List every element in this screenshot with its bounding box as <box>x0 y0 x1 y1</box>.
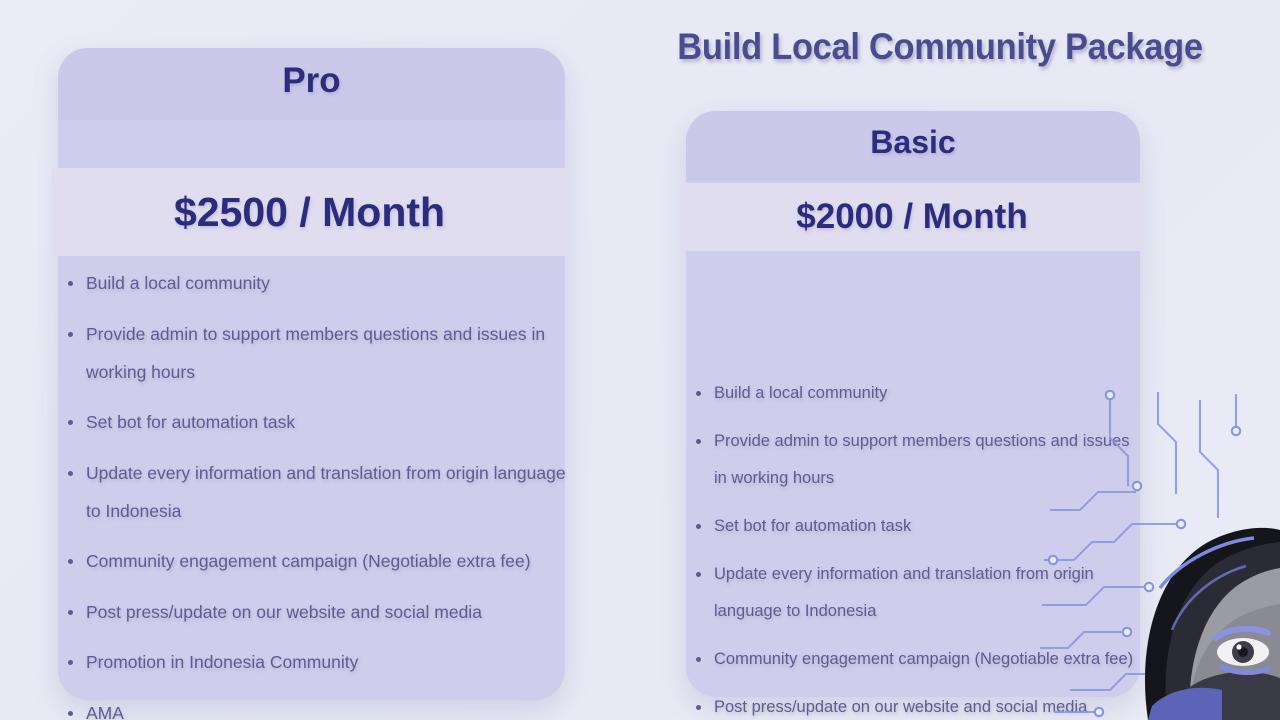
list-item: Build a local community <box>60 264 580 302</box>
card-price-basic: $2000 / Month <box>682 183 1142 251</box>
list-item: Update every information and translation… <box>60 454 580 530</box>
list-item: Provide admin to support members questio… <box>688 423 1143 497</box>
pricing-card-basic[interactable]: Basic $2000 / Month Build a local commun… <box>686 111 1140 697</box>
list-item: Community engagement campaign (Negotiabl… <box>60 542 580 580</box>
list-item: Set bot for automation task <box>60 403 580 441</box>
list-item: AMA <box>60 694 580 720</box>
pricing-card-pro[interactable]: Pro $2500 / Month Build a local communit… <box>58 48 565 700</box>
list-item: Build a local community <box>688 375 1143 412</box>
card-price-pro: $2500 / Month <box>52 168 567 256</box>
page-title: Build Local Community Package <box>642 26 1237 68</box>
card-title-basic: Basic <box>686 111 1140 181</box>
list-item: Provide admin to support members questio… <box>60 315 580 391</box>
list-item: Set bot for automation task <box>688 508 1143 545</box>
feature-list-pro: Build a local community Provide admin to… <box>60 264 580 720</box>
list-item: Promotion in Indonesia Community <box>60 643 580 681</box>
list-item: Post press/update on our website and soc… <box>60 593 580 631</box>
feature-list-basic: Build a local community Provide admin to… <box>688 375 1143 720</box>
card-title-pro: Pro <box>58 48 565 120</box>
list-item: Community engagement campaign (Negotiabl… <box>688 641 1143 678</box>
list-item: Post press/update on our website and soc… <box>688 689 1143 720</box>
list-item: Update every information and translation… <box>688 556 1143 630</box>
